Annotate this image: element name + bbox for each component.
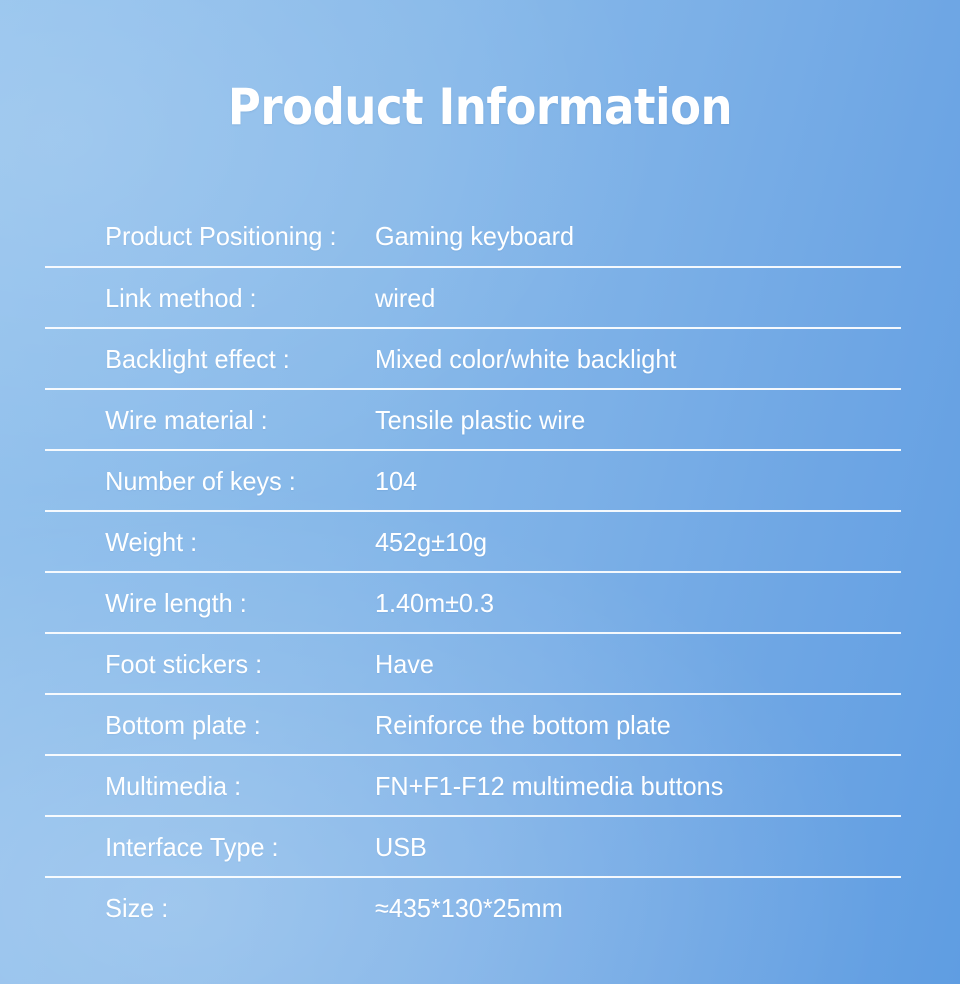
spec-label: Wire material : bbox=[45, 405, 365, 435]
spec-value: FN+F1-F12 multimedia buttons bbox=[375, 771, 885, 801]
table-row: Weight : 452g±10g bbox=[45, 510, 901, 571]
spec-label: Backlight effect : bbox=[45, 344, 365, 374]
spec-label: Link method : bbox=[45, 283, 365, 313]
table-row: Wire material : Tensile plastic wire bbox=[45, 388, 901, 449]
table-row: Bottom plate : Reinforce the bottom plat… bbox=[45, 693, 901, 754]
specification-table: Product Positioning : Gaming keyboard Li… bbox=[45, 205, 901, 937]
spec-label: Wire length : bbox=[45, 588, 365, 618]
product-information-page: Product Information Product Positioning … bbox=[0, 0, 960, 984]
spec-value: Mixed color/white backlight bbox=[375, 344, 885, 374]
table-row: Wire length : 1.40m±0.3 bbox=[45, 571, 901, 632]
spec-value: 104 bbox=[375, 466, 885, 496]
spec-value: Gaming keyboard bbox=[375, 221, 885, 251]
table-row: Interface Type : USB bbox=[45, 815, 901, 876]
spec-value: USB bbox=[375, 832, 885, 862]
table-row: Foot stickers : Have bbox=[45, 632, 901, 693]
spec-value: Reinforce the bottom plate bbox=[375, 710, 885, 740]
spec-label: Product Positioning : bbox=[45, 221, 365, 251]
spec-label: Multimedia : bbox=[45, 771, 365, 801]
spec-value: 1.40m±0.3 bbox=[375, 588, 885, 618]
spec-value: ≈435*130*25mm bbox=[375, 893, 885, 923]
table-row: Number of keys : 104 bbox=[45, 449, 901, 510]
table-row: Product Positioning : Gaming keyboard bbox=[45, 205, 901, 266]
table-row: Link method : wired bbox=[45, 266, 901, 327]
spec-label: Foot stickers : bbox=[45, 649, 365, 679]
spec-value: Have bbox=[375, 649, 885, 679]
spec-label: Number of keys : bbox=[45, 466, 365, 496]
spec-value: Tensile plastic wire bbox=[375, 405, 885, 435]
spec-label: Weight : bbox=[45, 527, 365, 557]
spec-label: Interface Type : bbox=[45, 832, 365, 862]
table-row: Backlight effect : Mixed color/white bac… bbox=[45, 327, 901, 388]
spec-value: 452g±10g bbox=[375, 527, 885, 557]
spec-value: wired bbox=[375, 283, 885, 313]
table-row: Size : ≈435*130*25mm bbox=[45, 876, 901, 937]
table-row: Multimedia : FN+F1-F12 multimedia button… bbox=[45, 754, 901, 815]
spec-label: Bottom plate : bbox=[45, 710, 365, 740]
spec-label: Size : bbox=[45, 893, 365, 923]
page-title: Product Information bbox=[48, 78, 912, 136]
